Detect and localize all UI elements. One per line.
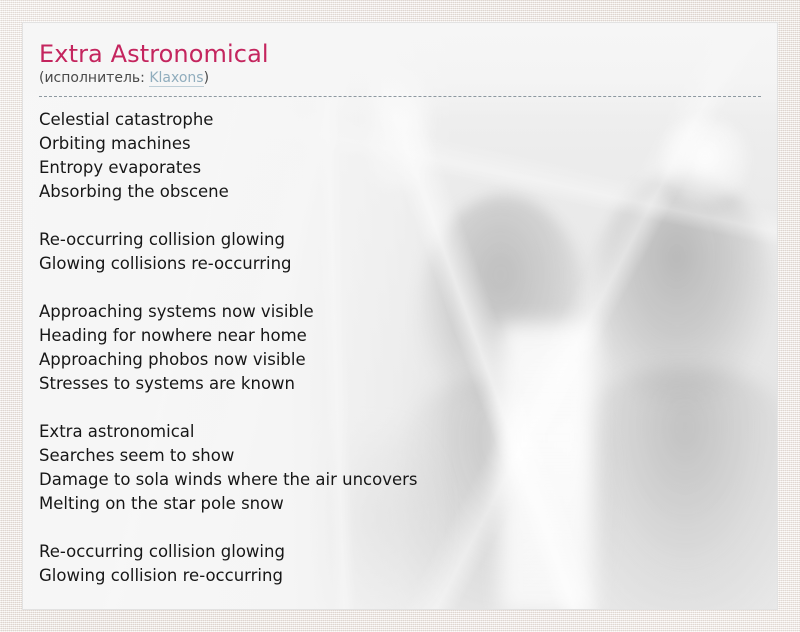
- artist-byline: (исполнитель: Klaxons): [39, 69, 761, 92]
- lyrics-blank-line: [39, 516, 761, 540]
- lyrics-blank-line: [39, 204, 761, 228]
- lyrics-line: Entropy evaporates: [39, 156, 761, 180]
- artist-link[interactable]: Klaxons: [149, 70, 203, 87]
- song-lyrics-container: Extra Astronomical (исполнитель: Klaxons…: [23, 23, 777, 588]
- lyrics-line: Orbiting machines: [39, 132, 761, 156]
- artist-byline-prefix: (исполнитель:: [39, 70, 149, 86]
- lyrics-line: Approaching systems now visible: [39, 300, 761, 324]
- lyrics-line: Approaching phobos now visible: [39, 348, 761, 372]
- lyrics-line: Glowing collision re-occurring: [39, 564, 761, 588]
- content-panel: Extra Astronomical (исполнитель: Klaxons…: [22, 22, 778, 610]
- lyrics-line: Melting on the star pole snow: [39, 492, 761, 516]
- lyrics-line: Glowing collisions re-occurring: [39, 252, 761, 276]
- lyrics-line: Stresses to systems are known: [39, 372, 761, 396]
- lyrics-blank-line: [39, 396, 761, 420]
- lyrics-line: Celestial catastrophe: [39, 108, 761, 132]
- lyrics-line: Re-occurring collision glowing: [39, 540, 761, 564]
- page-frame: Extra Astronomical (исполнитель: Klaxons…: [0, 0, 800, 632]
- lyrics-line: Heading for nowhere near home: [39, 324, 761, 348]
- lyrics-line: Searches seem to show: [39, 444, 761, 468]
- lyrics-line: Re-occurring collision glowing: [39, 228, 761, 252]
- lyrics-line: Extra astronomical: [39, 420, 761, 444]
- lyrics-list: Celestial catastropheOrbiting machinesEn…: [39, 97, 761, 588]
- lyrics-blank-line: [39, 276, 761, 300]
- lyrics-line: Damage to sola winds where the air uncov…: [39, 468, 761, 492]
- artist-byline-suffix: ): [204, 70, 209, 86]
- lyrics-line: Absorbing the obscene: [39, 180, 761, 204]
- title-separator: [39, 96, 761, 97]
- song-title: Extra Astronomical: [39, 39, 761, 69]
